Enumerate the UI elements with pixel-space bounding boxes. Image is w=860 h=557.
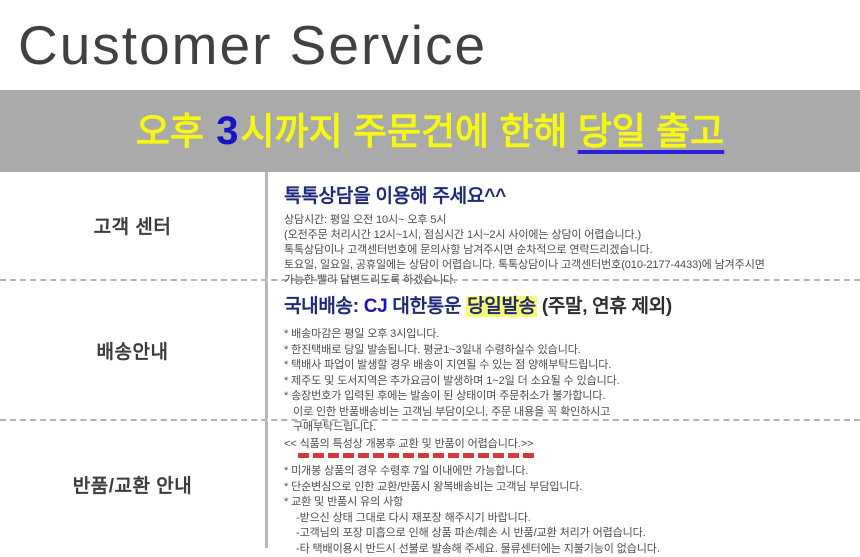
row-body-returns: << 식품의 특성상 개봉후 교환 및 반품이 어렵습니다.>> * 미개봉 상… xyxy=(268,421,860,548)
returns-notice: << 식품의 특성상 개봉후 교환 및 반품이 어렵습니다.>> xyxy=(284,435,850,451)
row-body-customer-center: 톡톡상담을 이용해 주세요^^ 상담시간: 평일 오전 10시~ 오후 5시 (… xyxy=(268,172,860,279)
row-label-text: 반품/교환 안내 xyxy=(73,471,192,498)
customer-center-line: 톡톡상담이나 고객센터번호에 문의사항 남겨주시면 순차적으로 연락드리겠습니다… xyxy=(284,243,850,258)
info-table: 고객 센터 톡톡상담을 이용해 주세요^^ 상담시간: 평일 오전 10시~ 오… xyxy=(0,172,860,548)
returns-subline: -타 택배이용시 반드시 선불로 발송해 주세요. 물류센터에는 지불기능이 없… xyxy=(284,542,850,557)
shipping-line: * 한진택배로 당일 발송됩니다. 평균1~3일내 수령하실수 있습니다. xyxy=(284,343,850,359)
row-body-shipping: 국내배송: CJ 대한통운 당일발송 (주말, 연휴 제외) * 배송마감은 평… xyxy=(268,281,860,419)
shipping-heading-suffix: (주말, 연휴 제외) xyxy=(537,296,672,317)
row-label-returns: 반품/교환 안내 xyxy=(0,421,268,548)
shipping-heading: 국내배송: CJ 대한통운 당일발송 (주말, 연휴 제외) xyxy=(284,291,850,318)
shipping-line: * 송장번호가 입력된 후에는 발송이 된 상태이며 주문취소가 불가합니다. xyxy=(284,389,850,405)
promo-banner: 오후 3시까지 주문건에 한해 당일 출고 xyxy=(0,90,860,172)
table-row-shipping: 배송안내 국내배송: CJ 대한통운 당일발송 (주말, 연휴 제외) * 배송… xyxy=(0,281,860,421)
row-label-text: 고객 센터 xyxy=(94,212,172,239)
row-label-customer-center: 고객 센터 xyxy=(0,172,268,279)
shipping-line: * 택배사 파업이 발생할 경우 배송이 지연될 수 있는 점 양해부탁드립니다… xyxy=(284,358,850,374)
returns-line: * 교환 및 반품시 유의 사항 xyxy=(284,495,850,511)
returns-subline: -고객님의 포장 미흡으로 인해 상품 파손/훼손 시 반품/교환 처리가 어렵… xyxy=(284,526,850,542)
promo-highlight: 당일 출고 xyxy=(578,111,724,152)
promo-prefix: 오후 xyxy=(136,111,214,152)
shipping-subline: 이로 인한 반품배송비는 고객님 부담이오니, 주문 내용을 꼭 확인하시고 xyxy=(284,405,850,421)
returns-line: * 단순변심으로 인한 교환/반품시 왕복배송비는 고객님 부담입니다. xyxy=(284,480,850,496)
table-row-customer-center: 고객 센터 톡톡상담을 이용해 주세요^^ 상담시간: 평일 오전 10시~ 오… xyxy=(0,172,860,281)
page-title-bar: Customer Service xyxy=(0,0,860,90)
customer-center-line: 토요일, 일요일, 공휴일에는 상담이 어렵습니다. 톡톡상담이나 고객센터번호… xyxy=(284,258,850,273)
shipping-highlight: 당일발송 xyxy=(466,296,537,317)
shipping-line: * 배송마감은 평일 오후 3시입니다. xyxy=(284,327,850,343)
table-row-returns: 반품/교환 안내 << 식품의 특성상 개봉후 교환 및 반품이 어렵습니다.>… xyxy=(0,421,860,548)
shipping-heading-prefix: 국내배송: xyxy=(284,296,364,317)
row-label-shipping: 배송안내 xyxy=(0,281,268,419)
customer-center-line: (오전주문 처리시간 12시~1시, 점심시간 1시~2시 사이에는 상담이 어… xyxy=(284,228,850,243)
cj-logo-text: CJ xyxy=(364,296,388,317)
row-label-text: 배송안내 xyxy=(97,337,169,364)
promo-hour-number: 3 xyxy=(214,109,240,153)
customer-center-line: 상담시간: 평일 오전 10시~ 오후 5시 xyxy=(284,213,850,228)
promo-middle: 시까지 주문건에 한해 xyxy=(240,111,577,152)
returns-line: * 미개봉 상품의 경우 수령후 7일 이내에만 가능합니다. xyxy=(284,464,850,480)
customer-center-heading: 톡톡상담을 이용해 주세요^^ xyxy=(284,181,850,208)
shipping-carrier: 대한통운 xyxy=(387,296,466,317)
shipping-line: * 제주도 및 도서지역은 추가요금이 발생하며 1~2일 더 소요될 수 있습… xyxy=(284,374,850,390)
returns-subline: -받으신 상태 그대로 다시 재포장 해주시기 바랍니다. xyxy=(284,511,850,527)
page-title: Customer Service xyxy=(18,18,487,73)
promo-banner-text: 오후 3시까지 주문건에 한해 당일 출고 xyxy=(136,111,724,151)
